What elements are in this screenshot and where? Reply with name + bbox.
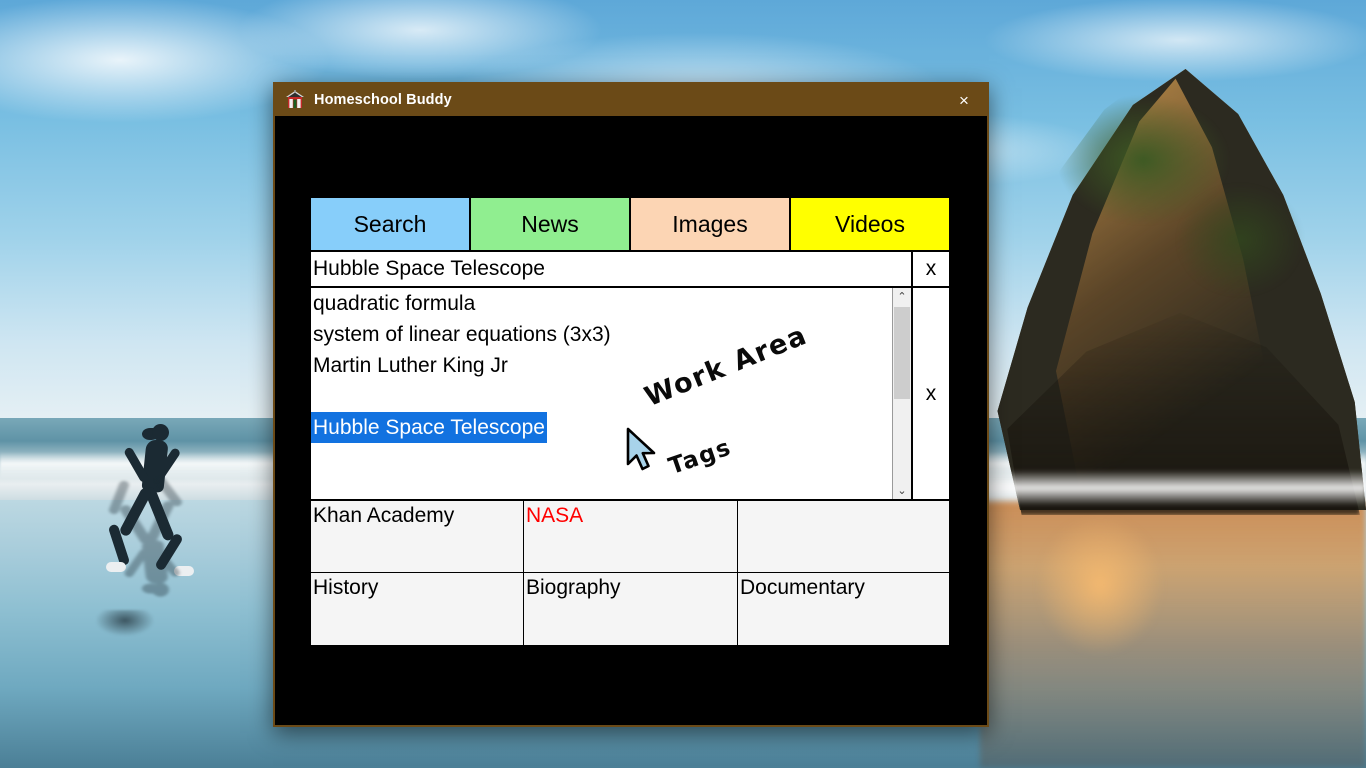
wallpaper-foreground-rock	[96, 610, 154, 636]
tab-videos[interactable]: Videos	[791, 198, 949, 250]
tag-cell-biography[interactable]: Biography	[524, 573, 738, 645]
tab-news-label: News	[521, 211, 579, 238]
tab-images-label: Images	[672, 211, 747, 238]
tag-cell-khan-academy[interactable]: Khan Academy	[311, 501, 524, 573]
work-area-row: quadratic formula system of linear equat…	[309, 288, 951, 501]
tab-videos-label: Videos	[835, 211, 905, 238]
window-body: Search News Images Videos x	[275, 116, 987, 725]
scrollbar-up-arrow-icon[interactable]: ⌃	[893, 288, 911, 305]
tag-cell-history[interactable]: History	[311, 573, 524, 645]
wallpaper-sun-glow	[1010, 505, 1190, 705]
scrollbar-thumb[interactable]	[894, 307, 910, 399]
list-item[interactable]: Martin Luther King Jr	[311, 350, 892, 381]
window-title: Homeschool Buddy	[314, 92, 452, 108]
tab-search[interactable]: Search	[311, 198, 471, 250]
work-area[interactable]: quadratic formula system of linear equat…	[311, 288, 892, 499]
tab-images[interactable]: Images	[631, 198, 791, 250]
tab-search-label: Search	[354, 211, 427, 238]
schoolhouse-icon	[285, 90, 305, 110]
tag-cell-documentary[interactable]: Documentary	[738, 573, 949, 645]
list-item-selected[interactable]: Hubble Space Telescope	[311, 412, 547, 443]
search-row: x	[309, 252, 951, 288]
tab-bar: Search News Images Videos	[309, 196, 951, 252]
wallpaper-breaking-wave	[985, 470, 1366, 506]
search-clear-button[interactable]: x	[911, 252, 949, 286]
application-window: Homeschool Buddy × Search News Images	[273, 82, 989, 727]
title-bar[interactable]: Homeschool Buddy ×	[275, 84, 987, 116]
work-area-scrollbar[interactable]: ⌃ ⌄	[892, 288, 911, 499]
search-input[interactable]	[311, 252, 911, 286]
close-icon[interactable]: ×	[941, 84, 987, 116]
scrollbar-down-arrow-icon[interactable]: ⌄	[893, 482, 911, 499]
list-item[interactable]: system of linear equations (3x3)	[311, 319, 892, 350]
list-item-blank[interactable]	[311, 381, 892, 412]
work-area-clear-button[interactable]: x	[911, 288, 949, 499]
tag-cell-empty[interactable]	[738, 501, 949, 573]
list-item[interactable]: quadratic formula	[311, 288, 892, 319]
work-area-list: quadratic formula system of linear equat…	[311, 288, 892, 443]
app-content: Search News Images Videos x	[309, 196, 951, 647]
tag-grid: Khan Academy NASA History Biography Docu…	[309, 501, 951, 647]
wallpaper-runner-reflection	[104, 477, 204, 600]
tag-cell-nasa[interactable]: NASA	[524, 501, 738, 573]
list-item-selected-row[interactable]: Hubble Space Telescope	[311, 412, 892, 443]
tab-news[interactable]: News	[471, 198, 631, 250]
desktop-wallpaper: Homeschool Buddy × Search News Images	[0, 0, 1366, 768]
wallpaper-cliff-scrub	[1150, 150, 1330, 330]
